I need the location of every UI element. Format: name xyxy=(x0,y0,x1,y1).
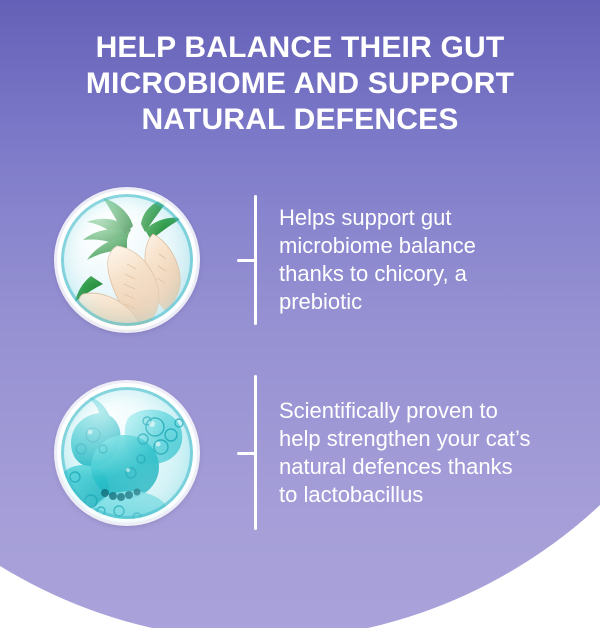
page-title: HELP BALANCE THEIR GUT MICROBIOME AND SU… xyxy=(50,30,550,138)
connector-tick xyxy=(237,452,257,455)
connector-line-1 xyxy=(219,195,261,325)
benefit-row-1: Helps support gut microbiome balance tha… xyxy=(57,190,529,330)
benefit-text-2: Scientifically proven to help strengthen… xyxy=(279,397,534,509)
connector-tick xyxy=(237,259,257,262)
infographic-content: HELP BALANCE THEIR GUT MICROBIOME AND SU… xyxy=(0,0,600,628)
chicory-root-petri-dish-icon xyxy=(57,190,197,330)
infographic-panel: HELP BALANCE THEIR GUT MICROBIOME AND SU… xyxy=(0,0,600,628)
benefit-text-1: Helps support gut microbiome balance tha… xyxy=(279,204,529,316)
lactobacillus-petri-dish-icon xyxy=(57,383,197,523)
connector-line-2 xyxy=(219,375,261,530)
benefit-row-2: Scientifically proven to help strengthen… xyxy=(57,375,534,530)
